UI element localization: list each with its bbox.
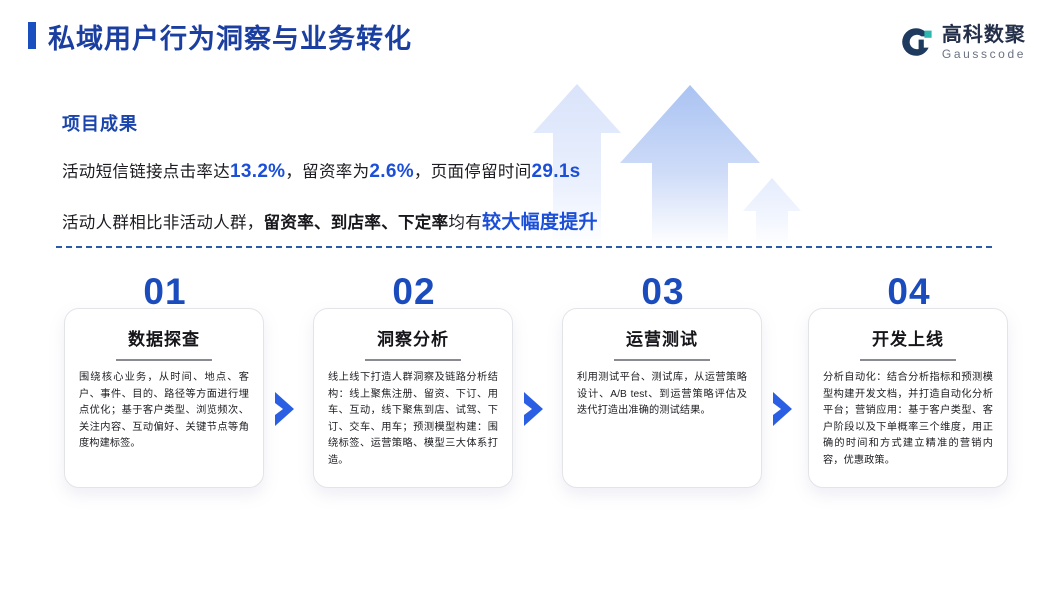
step-title-rule xyxy=(365,359,461,361)
results-heading: 项目成果 xyxy=(62,110,762,136)
step-number: 03 xyxy=(563,273,763,310)
metric-value-ctr: 13.2% xyxy=(230,161,285,182)
step-title: 运营测试 xyxy=(563,325,761,350)
step-card-4[interactable]: 04 开发上线 分析自动化：结合分析指标和预测模型构建开发文档，并打造自动化分析… xyxy=(808,308,1008,488)
step-title-rule xyxy=(614,359,710,361)
metric-label-1: 活动短信链接点击率达 xyxy=(62,163,230,181)
metric-label-2: ，留资率为 xyxy=(285,163,369,181)
step-card-3[interactable]: 03 运营测试 利用测试平台、测试库，从运营策略设计、A/B test、到运营策… xyxy=(562,308,762,488)
chevron-right-icon xyxy=(521,390,547,428)
results-metrics-line: 活动短信链接点击率达13.2%，留资率为2.6%，页面停留时间29.1s xyxy=(62,158,762,183)
title-accent-bar-icon xyxy=(28,22,36,49)
chevron-right-icon xyxy=(272,390,298,428)
comparison-label-2: 均有 xyxy=(448,214,482,232)
metric-label-3: ，页面停留时间 xyxy=(414,163,532,181)
slide-header: 私域用户行为洞察与业务转化 高科数聚 Gausscode xyxy=(0,0,1048,84)
comparison-highlight: 较大幅度提升 xyxy=(482,212,598,233)
step-card-1[interactable]: 01 数据探查 围绕核心业务，从时间、地点、客户、事件、目的、路径等方面进行埋点… xyxy=(64,308,264,488)
step-number: 02 xyxy=(314,273,514,310)
step-number: 04 xyxy=(809,273,1009,310)
step-title-rule xyxy=(116,359,212,361)
gausscode-ring-logo-icon xyxy=(899,25,933,59)
process-steps-row: 01 数据探查 围绕核心业务，从时间、地点、客户、事件、目的、路径等方面进行埋点… xyxy=(0,272,1048,522)
step-number: 01 xyxy=(65,273,265,310)
logo-name-cn: 高科数聚 xyxy=(942,25,1026,45)
project-results-block: 项目成果 活动短信链接点击率达13.2%，留资率为2.6%，页面停留时间29.1… xyxy=(62,110,762,234)
metric-value-dwelltime: 29.1s xyxy=(532,161,581,182)
step-description: 线上线下打造人群洞察及链路分析结构：线上聚焦注册、留资、下订、用车、互动，线下聚… xyxy=(328,370,498,469)
comparison-metrics-bold: 留资率、到店率、下定率 xyxy=(264,214,449,232)
step-title-rule xyxy=(860,359,956,361)
step-title: 数据探查 xyxy=(65,325,263,350)
results-comparison-line: 活动人群相比非活动人群，留资率、到店率、下定率均有较大幅度提升 xyxy=(62,207,762,234)
page-title: 私域用户行为洞察与业务转化 xyxy=(48,17,412,56)
step-description: 围绕核心业务，从时间、地点、客户、事件、目的、路径等方面进行埋点优化；基于客户类… xyxy=(79,370,249,453)
brand-logo: 高科数聚 Gausscode xyxy=(899,20,1026,64)
metric-value-leadrate: 2.6% xyxy=(369,161,414,182)
step-description: 分析自动化：结合分析指标和预测模型构建开发文档，并打造自动化分析平台；营销应用：… xyxy=(823,370,993,469)
chevron-right-icon xyxy=(770,390,796,428)
step-title: 洞察分析 xyxy=(314,325,512,350)
step-title: 开发上线 xyxy=(809,325,1007,350)
logo-name-en: Gausscode xyxy=(942,48,1026,60)
section-divider xyxy=(56,246,992,248)
comparison-label-1: 活动人群相比非活动人群， xyxy=(62,214,264,232)
step-description: 利用测试平台、测试库，从运营策略设计、A/B test、到运营策略评估及迭代打造… xyxy=(577,370,747,420)
step-card-2[interactable]: 02 洞察分析 线上线下打造人群洞察及链路分析结构：线上聚焦注册、留资、下订、用… xyxy=(313,308,513,488)
logo-text-block: 高科数聚 Gausscode xyxy=(942,25,1026,60)
slide-canvas: 私域用户行为洞察与业务转化 高科数聚 Gausscode 项目成果 活动短信链接… xyxy=(0,0,1048,591)
